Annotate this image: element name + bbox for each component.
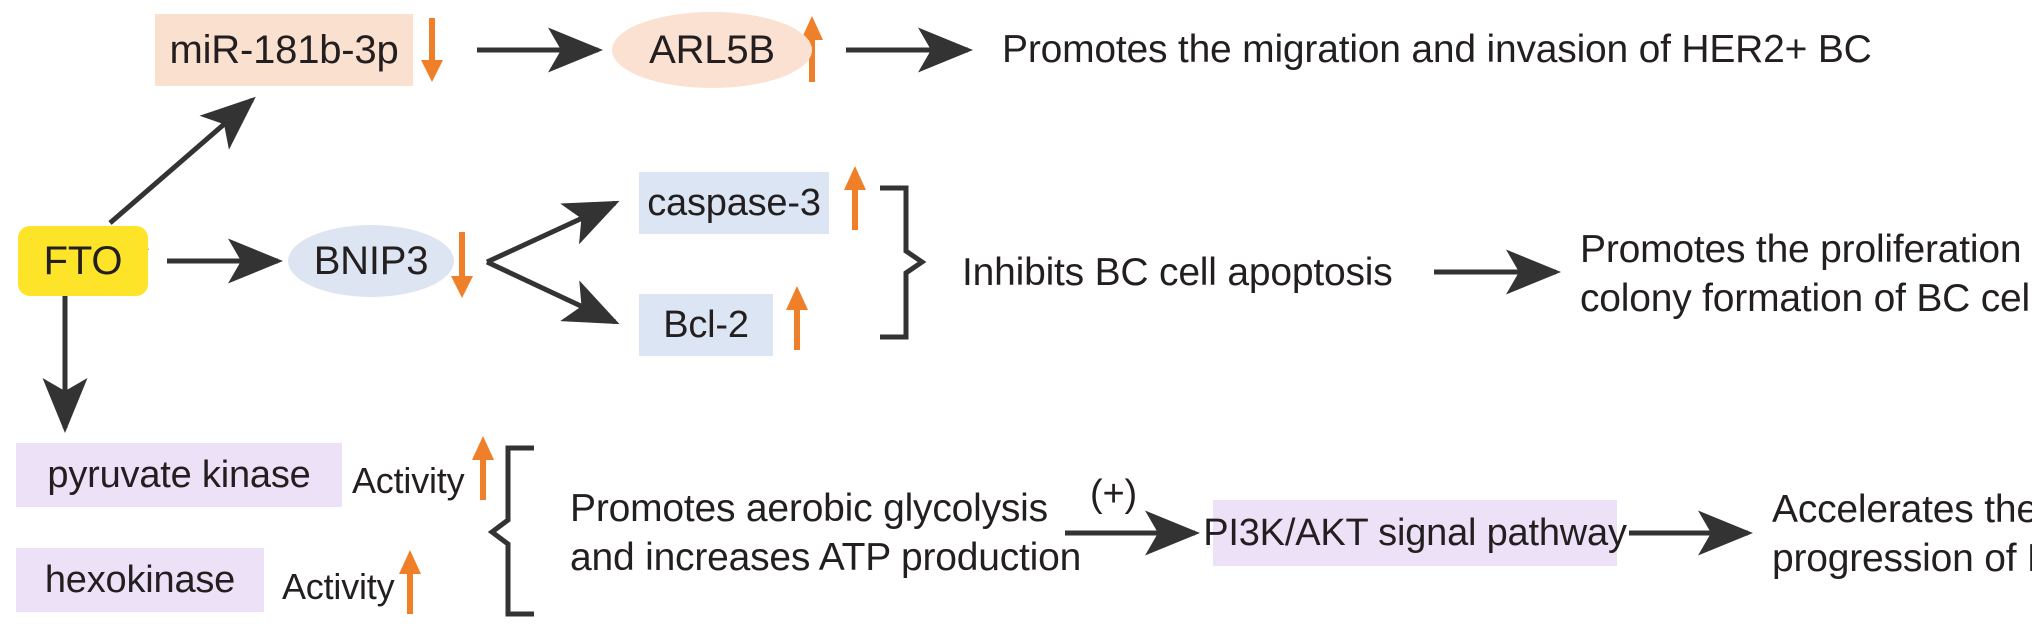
up-arrow-icon-pyruvate-kinase bbox=[472, 436, 494, 500]
node-label-fto: FTO bbox=[44, 239, 123, 284]
up-arrow-icon-hexokinase bbox=[399, 550, 421, 614]
annotation-plus-sign: (+) bbox=[1090, 472, 1137, 517]
brace-glycolysis-group bbox=[492, 448, 534, 614]
outcome-progression-line1: Accelerates the bbox=[1772, 487, 2032, 533]
outcome-glycolysis-line2: and increases ATP production bbox=[570, 535, 1081, 581]
edge-fto-to-mir bbox=[110, 100, 252, 223]
label-pyruvate-kinase-activity: Activity bbox=[352, 460, 464, 502]
node-label-hexokinase: hexokinase bbox=[45, 559, 235, 602]
outcome-her2-migration: Promotes the migration and invasion of H… bbox=[1002, 27, 1872, 73]
brace-apoptosis-group bbox=[880, 188, 922, 337]
outcome-proliferation-line2: colony formation of BC cells bbox=[1580, 276, 2032, 322]
node-caspase-3[interactable]: caspase-3 bbox=[639, 172, 829, 234]
up-arrow-icon-bcl2 bbox=[786, 286, 808, 350]
node-bnip3[interactable]: BNIP3 bbox=[288, 225, 454, 297]
node-bcl-2[interactable]: Bcl-2 bbox=[639, 294, 773, 356]
node-arl5b[interactable]: ARL5B bbox=[612, 12, 812, 88]
node-label-caspase-3: caspase-3 bbox=[647, 182, 821, 225]
node-hexokinase[interactable]: hexokinase bbox=[16, 548, 264, 612]
outcome-progression-line2: progression of BC bbox=[1772, 536, 2032, 582]
pathway-diagram: miR-181b-3p ARL5B Promotes the migration… bbox=[0, 0, 2032, 643]
node-label-arl5b: ARL5B bbox=[649, 28, 775, 73]
down-arrow-icon-bnip3 bbox=[451, 232, 473, 298]
edge-bnip3-to-caspase3 bbox=[487, 203, 615, 262]
node-label-mir-181b-3p: miR-181b-3p bbox=[169, 28, 398, 73]
node-label-pyruvate-kinase: pyruvate kinase bbox=[47, 454, 310, 497]
outcome-proliferation-line1: Promotes the proliferation and bbox=[1580, 227, 2032, 273]
node-pyruvate-kinase[interactable]: pyruvate kinase bbox=[16, 443, 342, 507]
edge-bnip3-to-bcl2 bbox=[487, 262, 615, 322]
up-arrow-icon-caspase3 bbox=[844, 166, 866, 230]
outcome-inhibits-apoptosis: Inhibits BC cell apoptosis bbox=[962, 250, 1393, 296]
node-label-pi3k-akt: PI3K/AKT signal pathway bbox=[1203, 512, 1627, 555]
down-arrow-icon-mir bbox=[421, 18, 443, 82]
node-label-bcl-2: Bcl-2 bbox=[663, 304, 749, 347]
node-label-bnip3: BNIP3 bbox=[314, 239, 429, 284]
node-mir-181b-3p[interactable]: miR-181b-3p bbox=[155, 14, 413, 86]
outcome-glycolysis-line1: Promotes aerobic glycolysis bbox=[570, 486, 1048, 532]
node-fto[interactable]: FTO bbox=[18, 226, 148, 296]
label-hexokinase-activity: Activity bbox=[282, 566, 394, 608]
node-pi3k-akt-signal-pathway[interactable]: PI3K/AKT signal pathway bbox=[1213, 500, 1617, 566]
